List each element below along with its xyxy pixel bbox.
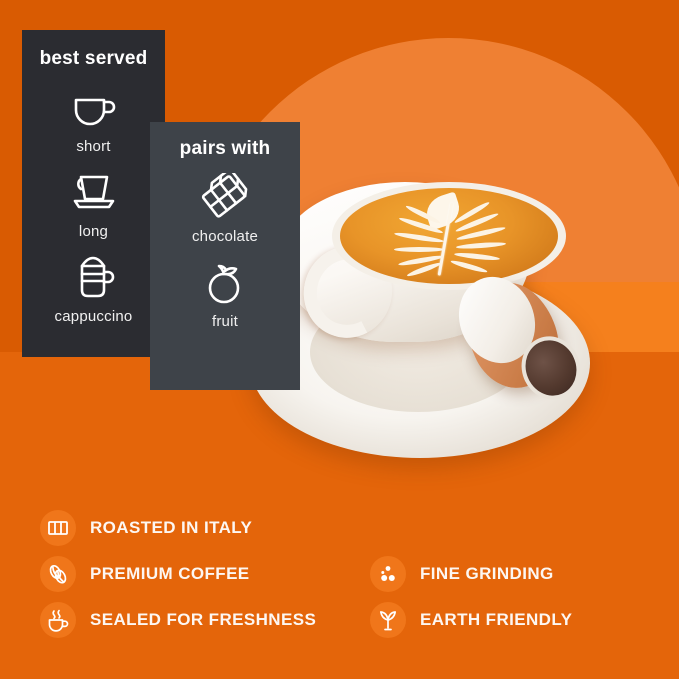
- rosetta-frond: [454, 252, 500, 262]
- italy-flag-icon: [40, 510, 76, 546]
- chocolate-bar-icon: [197, 174, 253, 222]
- best-served-item-cappuccino: cappuccino: [22, 254, 165, 325]
- coffee-capsule: [468, 278, 572, 402]
- panel-pairs-with: pairs with chocolate: [150, 122, 300, 390]
- rosetta-frond: [394, 247, 444, 252]
- feature-label-fine-grinding: FINE GRINDING: [420, 564, 554, 584]
- pairs-with-item-fruit: fruit: [150, 259, 300, 330]
- rosetta-frond: [450, 259, 488, 274]
- coffee-beans-icon: [40, 556, 76, 592]
- rosetta-frond: [394, 231, 444, 244]
- feature-label-sealed-for-freshness: SEALED FOR FRESHNESS: [90, 610, 316, 630]
- pairs-with-label-fruit: fruit: [212, 313, 238, 330]
- lungo-cup-saucer-icon: [66, 169, 122, 217]
- cappuccino-glass-icon: [66, 254, 122, 302]
- latte-art-rosetta: [340, 188, 558, 284]
- fruit-orange-icon: [197, 259, 253, 307]
- espresso-cup-icon: [66, 84, 122, 132]
- feature-sealed-for-freshness: SEALED FOR FRESHNESS: [40, 602, 370, 638]
- panel-best-served: best served short long: [22, 30, 165, 357]
- rosetta-frond: [456, 241, 506, 249]
- pairs-with-label-chocolate: chocolate: [192, 228, 258, 245]
- feature-fine-grinding: FINE GRINDING: [370, 556, 660, 592]
- product-infographic: best served short long: [0, 0, 679, 679]
- feature-list: ROASTED IN ITALY PREMIUM COFFEE: [40, 505, 660, 643]
- best-served-label-long: long: [79, 223, 108, 240]
- feature-premium-coffee: PREMIUM COFFEE: [40, 556, 370, 592]
- feature-label-roasted-in-italy: ROASTED IN ITALY: [90, 518, 252, 538]
- grind-dots-icon: [370, 556, 406, 592]
- sprout-leaf-icon: [370, 602, 406, 638]
- panel-best-served-title: best served: [22, 48, 165, 70]
- best-served-item-short: short: [22, 84, 165, 155]
- best-served-item-long: long: [22, 169, 165, 240]
- panel-pairs-with-title: pairs with: [150, 138, 300, 160]
- feature-earth-friendly: EARTH FRIENDLY: [370, 602, 660, 638]
- pairs-with-item-chocolate: chocolate: [150, 174, 300, 245]
- best-served-label-cappuccino: cappuccino: [55, 308, 133, 325]
- feature-label-earth-friendly: EARTH FRIENDLY: [420, 610, 572, 630]
- feature-label-premium-coffee: PREMIUM COFFEE: [90, 564, 250, 584]
- steaming-cup-icon: [40, 602, 76, 638]
- feature-roasted-in-italy: ROASTED IN ITALY: [40, 510, 370, 546]
- best-served-label-short: short: [76, 138, 110, 155]
